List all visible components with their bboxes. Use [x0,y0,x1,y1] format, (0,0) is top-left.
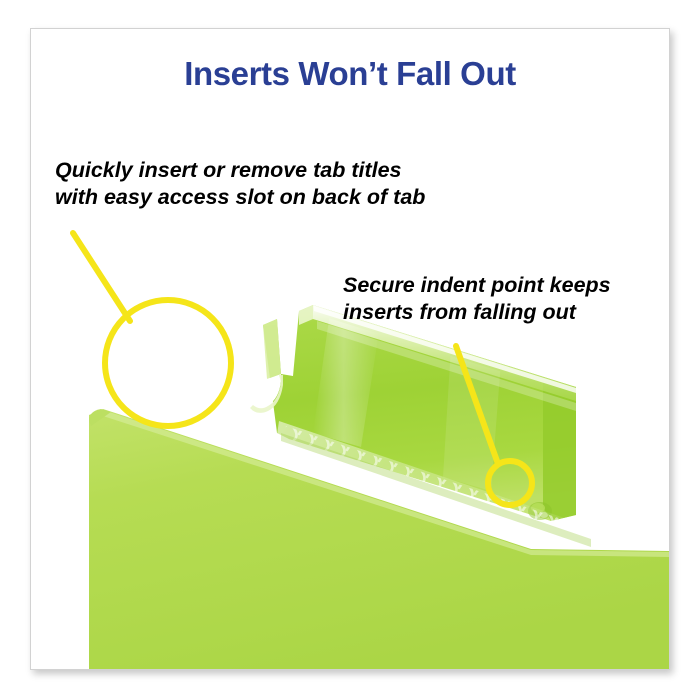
page-title: Inserts Won’t Fall Out [31,55,669,93]
callout-label-secure-indent-point: Secure indent point keeps inserts from f… [343,272,611,326]
callout-line-2: with easy access slot on back of tab [55,184,425,211]
callout-label-easy-access-slot: Quickly insert or remove tab titles with… [55,157,425,211]
product-feature-image: Inserts Won’t Fall Out Quickly insert or… [0,0,700,700]
callout-line-1: Secure indent point keeps [343,272,611,299]
callout-line-2: inserts from falling out [343,299,611,326]
photo-canvas: Inserts Won’t Fall Out Quickly insert or… [30,28,670,670]
product-photograph [31,29,669,669]
callout-line-1: Quickly insert or remove tab titles [55,157,425,184]
